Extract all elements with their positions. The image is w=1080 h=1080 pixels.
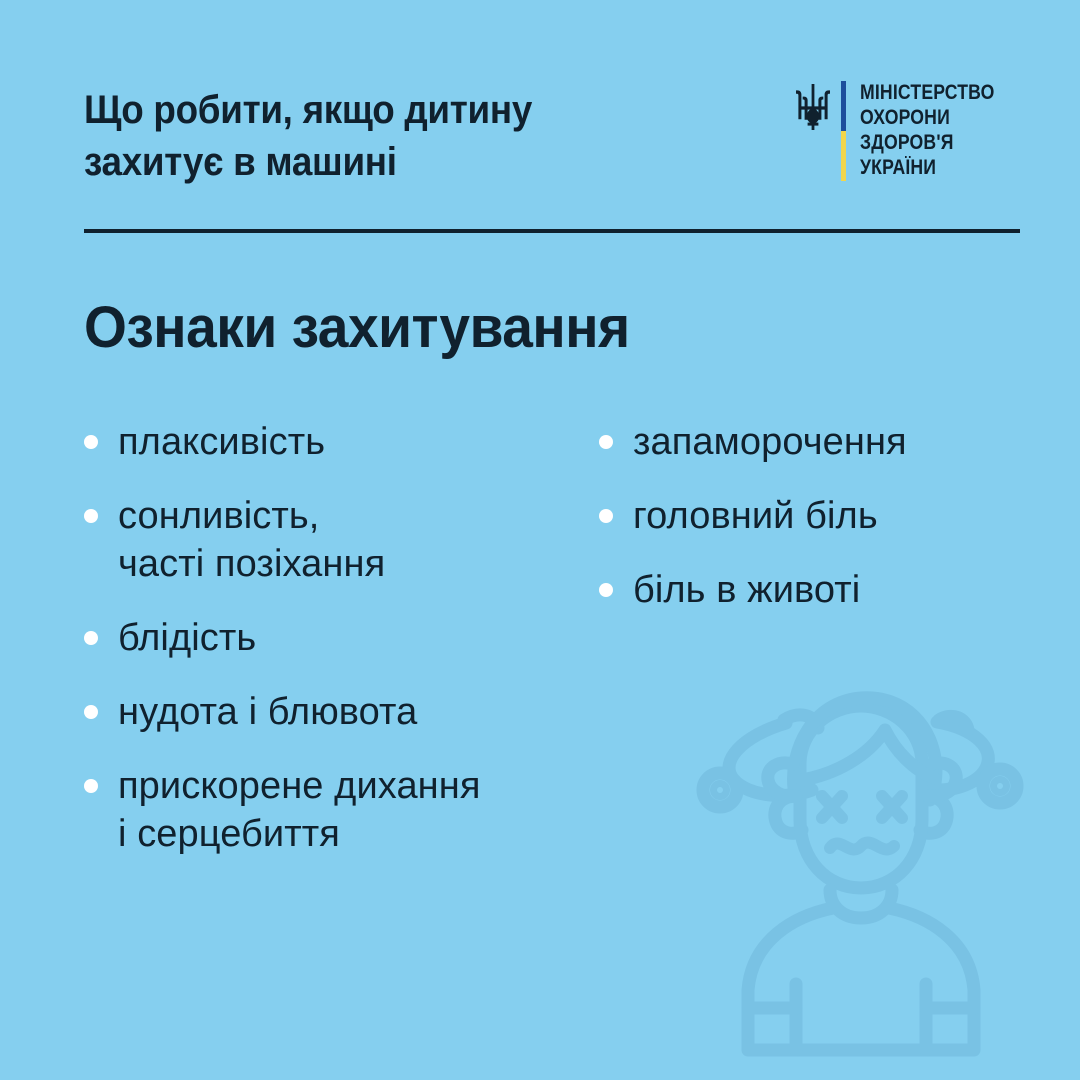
logo-line-4: УКРАЇНИ	[860, 155, 995, 180]
bullet-dot-icon	[84, 779, 98, 793]
infographic-card: Що робити, якщо дитину захитує в машині …	[0, 0, 1080, 1080]
list-item: плаксивість	[84, 418, 554, 466]
list-item-label: біль в животі	[633, 566, 860, 614]
logo-line-3: ЗДОРОВ'Я	[860, 130, 995, 155]
bullet-dot-icon	[599, 435, 613, 449]
ministry-logo-text: МІНІСТЕРСТВО ОХОРОНИ ЗДОРОВ'Я УКРАЇНИ	[860, 78, 1020, 180]
list-item: сонливість, часті позіхання	[84, 492, 554, 588]
list-item-label: плаксивість	[118, 418, 325, 466]
list-item-label: нудота і блювота	[118, 688, 417, 736]
header-divider	[84, 229, 1020, 233]
list-item: блідість	[84, 614, 554, 662]
bullet-dot-icon	[84, 631, 98, 645]
bullet-dot-icon	[84, 435, 98, 449]
list-item: нудота і блювота	[84, 688, 554, 736]
bullet-dot-icon	[84, 509, 98, 523]
list-item-label: сонливість, часті позіхання	[118, 492, 385, 588]
logo-line-1: МІНІСТЕРСТВО	[860, 80, 995, 105]
section-heading: Ознаки захитування	[84, 298, 630, 359]
ministry-logo: МІНІСТЕРСТВО ОХОРОНИ ЗДОРОВ'Я УКРАЇНИ	[796, 78, 1020, 181]
bullet-dot-icon	[84, 705, 98, 719]
ukraine-trident-icon	[796, 84, 830, 130]
list-item: головний біль	[599, 492, 1019, 540]
bullet-dot-icon	[599, 509, 613, 523]
logo-line-2: ОХОРОНИ	[860, 105, 995, 130]
flag-divider-bar	[841, 81, 846, 181]
list-item: прискорене дихання і серцебиття	[84, 762, 554, 858]
list-item-label: блідість	[118, 614, 256, 662]
symptoms-column-left: плаксивість сонливість, часті позіхання …	[84, 418, 554, 884]
symptoms-column-right: запаморочення головний біль біль в живот…	[599, 418, 1019, 640]
bullet-dot-icon	[599, 583, 613, 597]
page-title: Що робити, якщо дитину захитує в машині	[84, 84, 599, 188]
list-item: запаморочення	[599, 418, 1019, 466]
list-item: біль в животі	[599, 566, 1019, 614]
list-item-label: прискорене дихання і серцебиття	[118, 762, 481, 858]
list-item-label: запаморочення	[633, 418, 907, 466]
dizzy-child-icon	[690, 668, 1030, 1068]
list-item-label: головний біль	[633, 492, 878, 540]
